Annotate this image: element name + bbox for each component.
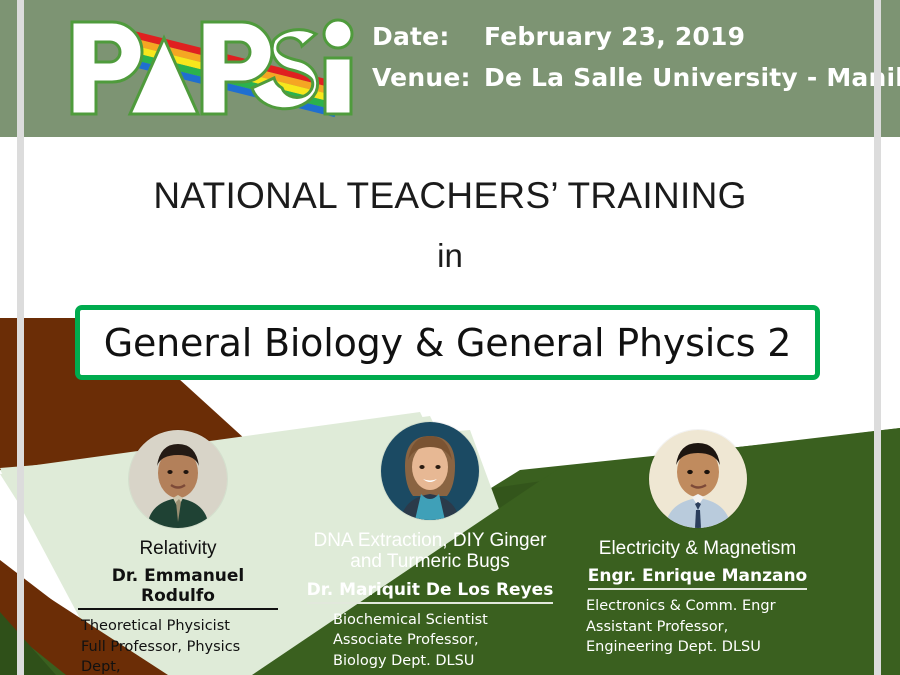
title-connector: in	[0, 237, 900, 275]
poster-canvas: Date: February 23, 2019 Venue: De La Sal…	[0, 0, 900, 675]
subject-text: General Biology & General Physics 2	[104, 321, 792, 365]
credential-line: Biology Dept. DLSU	[333, 651, 555, 672]
speaker-photo-delosreyes	[381, 422, 479, 520]
speaker-topic-line-2: and Turmeric Bugs	[305, 551, 555, 572]
papsi-logo-icon	[66, 16, 356, 120]
subject-highlight-box: General Biology & General Physics 2	[75, 305, 820, 380]
credential-line: Biochemical Scientist	[333, 610, 555, 631]
speaker-photo-rodulfo	[129, 430, 227, 528]
speaker-photo-manzano	[649, 430, 747, 528]
credential-line: Assistant Professor,	[586, 617, 825, 638]
speaker-credentials-3: Electronics & Comm. Engr Assistant Profe…	[570, 596, 825, 658]
date-value: February 23, 2019	[484, 22, 745, 51]
speaker-card-3: Electricity & Magnetism Engr. Enrique Ma…	[570, 430, 825, 658]
right-vertical-stripe	[874, 0, 881, 675]
speaker-credentials-1: Theoretical Physicist Full Professor, Ph…	[78, 616, 278, 675]
speaker-topic-2: DNA Extraction, DIY Ginger and Turmeric …	[305, 530, 555, 573]
speaker-card-2: DNA Extraction, DIY Ginger and Turmeric …	[305, 422, 555, 671]
speaker-topic-3: Electricity & Magnetism	[570, 538, 825, 559]
speaker-name-1: Dr. Emmanuel Rodulfo	[78, 566, 278, 610]
credential-line: Engineering Dept. DLSU	[586, 637, 825, 658]
speaker-name-3: Engr. Enrique Manzano	[588, 566, 808, 590]
speaker-card-1: Relativity Dr. Emmanuel Rodulfo Theoreti…	[78, 430, 278, 675]
speaker-name-2: Dr. Mariquit De Los Reyes	[307, 580, 554, 604]
speaker-topic-1: Relativity	[78, 538, 278, 559]
credential-line: Electronics & Comm. Engr	[586, 596, 825, 617]
event-venue-row: Venue: De La Salle University - Manila	[372, 63, 900, 92]
credential-line: Full Professor, Physics Dept,	[81, 637, 278, 675]
date-label: Date:	[372, 22, 484, 51]
page-title: NATIONAL TEACHERS’ TRAINING	[0, 175, 900, 217]
credential-line: Theoretical Physicist	[81, 616, 278, 637]
left-vertical-stripe	[17, 0, 24, 675]
title-block: NATIONAL TEACHERS’ TRAINING in	[0, 175, 900, 275]
header-band: Date: February 23, 2019 Venue: De La Sal…	[0, 0, 900, 137]
event-date-row: Date: February 23, 2019	[372, 22, 900, 51]
credential-line: Associate Professor,	[333, 630, 555, 651]
event-details: Date: February 23, 2019 Venue: De La Sal…	[372, 22, 900, 104]
venue-label: Venue:	[372, 63, 484, 92]
venue-value: De La Salle University - Manila	[484, 63, 900, 92]
speakers-section: Relativity Dr. Emmanuel Rodulfo Theoreti…	[0, 430, 900, 675]
speaker-credentials-2: Biochemical Scientist Associate Professo…	[305, 610, 555, 672]
speaker-topic-line-1: DNA Extraction, DIY Ginger	[305, 530, 555, 551]
